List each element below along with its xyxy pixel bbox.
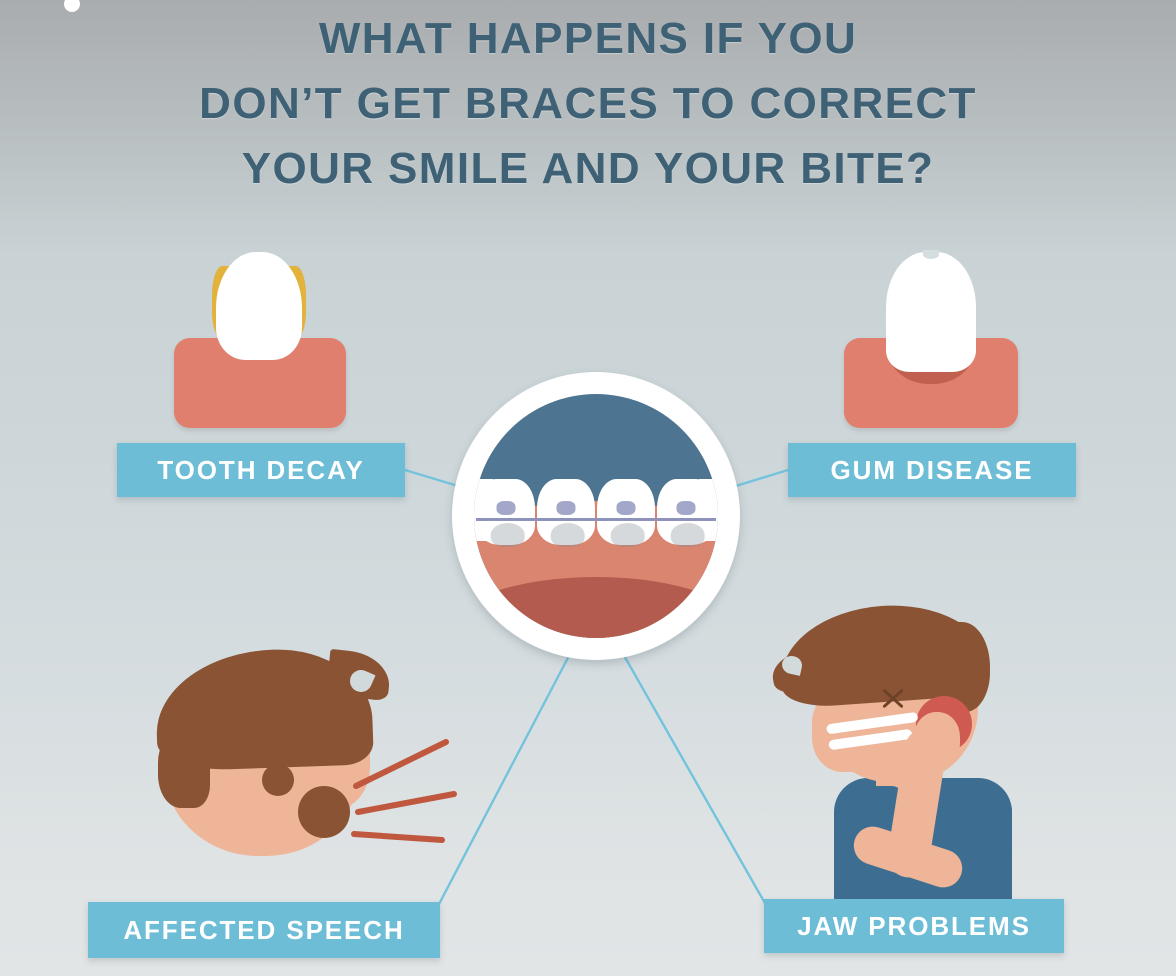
speech-lines-icon	[350, 728, 470, 848]
center-mouth-braces-icon	[452, 372, 740, 660]
speaking-head-icon	[152, 636, 462, 886]
label-gum-disease[interactable]: GUM DISEASE	[788, 443, 1076, 497]
open-mouth	[298, 786, 350, 838]
tooth	[537, 479, 595, 545]
title-line-2: DON’T GET BRACES TO CORRECT	[0, 71, 1176, 136]
label-text: JAW PROBLEMS	[797, 911, 1031, 942]
infographic-stage: WHAT HAPPENS IF YOU DON’T GET BRACES TO …	[0, 0, 1176, 976]
tooth-shape	[886, 252, 976, 372]
shoulder-right	[948, 786, 1012, 856]
mouth-interior	[474, 394, 718, 638]
eye	[262, 764, 294, 796]
bracket-icon	[677, 501, 696, 515]
decayed-tooth-icon	[166, 252, 352, 428]
label-tooth-decay[interactable]: TOOTH DECAY	[117, 443, 405, 497]
label-jaw-problems[interactable]: JAW PROBLEMS	[764, 899, 1064, 953]
bracket-icon	[497, 501, 516, 515]
archwire	[476, 518, 716, 521]
x-eye-icon	[880, 686, 906, 712]
lower-lip	[474, 577, 718, 638]
label-text: TOOTH DECAY	[157, 455, 364, 486]
page-title: WHAT HAPPENS IF YOU DON’T GET BRACES TO …	[0, 6, 1176, 201]
bracket-icon	[557, 501, 576, 515]
connector-jaw-problems	[622, 652, 766, 905]
title-line-3: YOUR SMILE AND YOUR BITE?	[0, 136, 1176, 201]
receding-gum-tooth-icon	[836, 252, 1026, 428]
title-line-1: WHAT HAPPENS IF YOU	[0, 6, 1176, 71]
label-text: AFFECTED SPEECH	[123, 915, 404, 946]
bracket-icon	[617, 501, 636, 515]
jaw-pain-person-icon	[768, 600, 1048, 910]
label-text: GUM DISEASE	[831, 455, 1034, 486]
tooth	[477, 479, 535, 545]
hand	[914, 712, 960, 764]
tooth	[657, 479, 715, 545]
tooth-shape	[216, 252, 302, 360]
tooth	[597, 479, 655, 545]
label-affected-speech[interactable]: AFFECTED SPEECH	[88, 902, 440, 958]
